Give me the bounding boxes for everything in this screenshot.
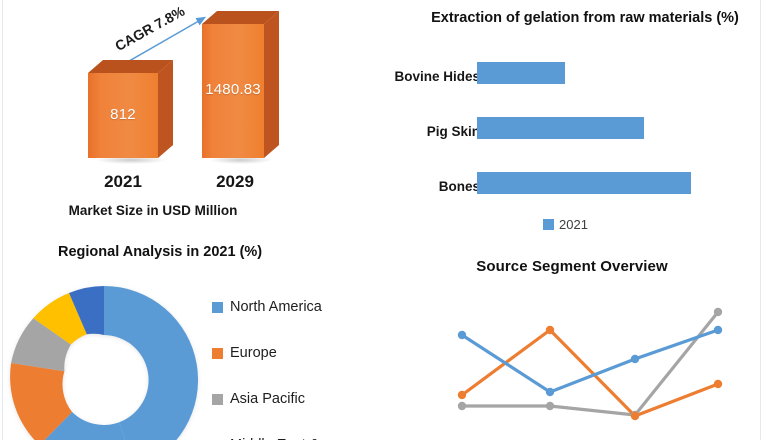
hbar-bones xyxy=(477,172,691,194)
marker-series-3-p2 xyxy=(546,402,554,410)
donut-graphic xyxy=(6,282,202,440)
legend-swatch-2021 xyxy=(543,219,554,230)
market-size-column-chart: CAGR 7.8% 812 1480.83 2021 xyxy=(0,0,390,222)
hbar-category-bones: Bones xyxy=(370,180,480,194)
legend-label-asia-pacific: Asia Pacific xyxy=(230,391,305,407)
hbar-category-pig-skin: Pig Skin xyxy=(370,125,480,139)
legend-row-middle-east: Middle East & xyxy=(212,422,322,440)
extraction-legend: 2021 xyxy=(543,217,588,232)
marker-series-2-p2 xyxy=(546,326,554,334)
donut-slice-north-america xyxy=(104,286,198,440)
marker-series-3-p4 xyxy=(714,308,722,316)
regional-legend: North America Europe Asia Pacific Middle… xyxy=(212,284,322,440)
legend-swatch-asia-pacific xyxy=(212,394,223,405)
hbar-pig-skin xyxy=(477,117,644,139)
legend-label-2021: 2021 xyxy=(559,217,588,232)
legend-label-europe: Europe xyxy=(230,345,277,361)
column-side-face-2029 xyxy=(264,11,280,159)
marker-series-2-p3 xyxy=(631,412,639,420)
regional-chart-title: Regional Analysis in 2021 (%) xyxy=(58,244,358,260)
marker-series-1-p4 xyxy=(714,326,722,334)
extraction-chart-title: Extraction of gelation from raw material… xyxy=(390,10,780,26)
legend-swatch-europe xyxy=(212,348,223,359)
extraction-bar-chart: Extraction of gelation from raw material… xyxy=(390,0,780,240)
legend-label-north-america: North America xyxy=(230,299,322,315)
marker-series-1-p3 xyxy=(631,355,639,363)
marker-series-1-p2 xyxy=(546,388,554,396)
column-bar-2021: 812 xyxy=(88,73,158,158)
hbar-bovine-hides xyxy=(477,62,565,84)
hbar-category-bovine-hides: Bovine Hides xyxy=(370,70,480,84)
column-category-2021: 2021 xyxy=(78,172,168,192)
column-front-face-2029 xyxy=(202,24,264,158)
column-side-face-2021 xyxy=(158,60,174,159)
legend-row-europe: Europe xyxy=(212,330,322,376)
legend-row-north-america: North America xyxy=(212,284,322,330)
infographic-canvas: CAGR 7.8% 812 1480.83 2021 xyxy=(0,0,780,440)
column-chart-caption: Market Size in USD Million xyxy=(0,203,348,218)
marker-series-1-p1 xyxy=(458,331,466,339)
marker-series-3-p1 xyxy=(458,402,466,410)
marker-series-2-p4 xyxy=(714,380,722,388)
column-category-2029: 2029 xyxy=(190,172,280,192)
column-bar-2029: 1480.83 xyxy=(202,24,264,158)
column-front-face-2021 xyxy=(88,73,158,158)
line-chart-plot xyxy=(400,240,780,440)
marker-series-2-p1 xyxy=(458,391,466,399)
legend-swatch-north-america xyxy=(212,302,223,313)
source-segment-line-chart: Source Segment Overview xyxy=(400,240,780,440)
legend-row-asia-pacific: Asia Pacific xyxy=(212,376,322,422)
regional-analysis-donut-chart: Regional Analysis in 2021 (%) North Amer… xyxy=(0,230,390,440)
